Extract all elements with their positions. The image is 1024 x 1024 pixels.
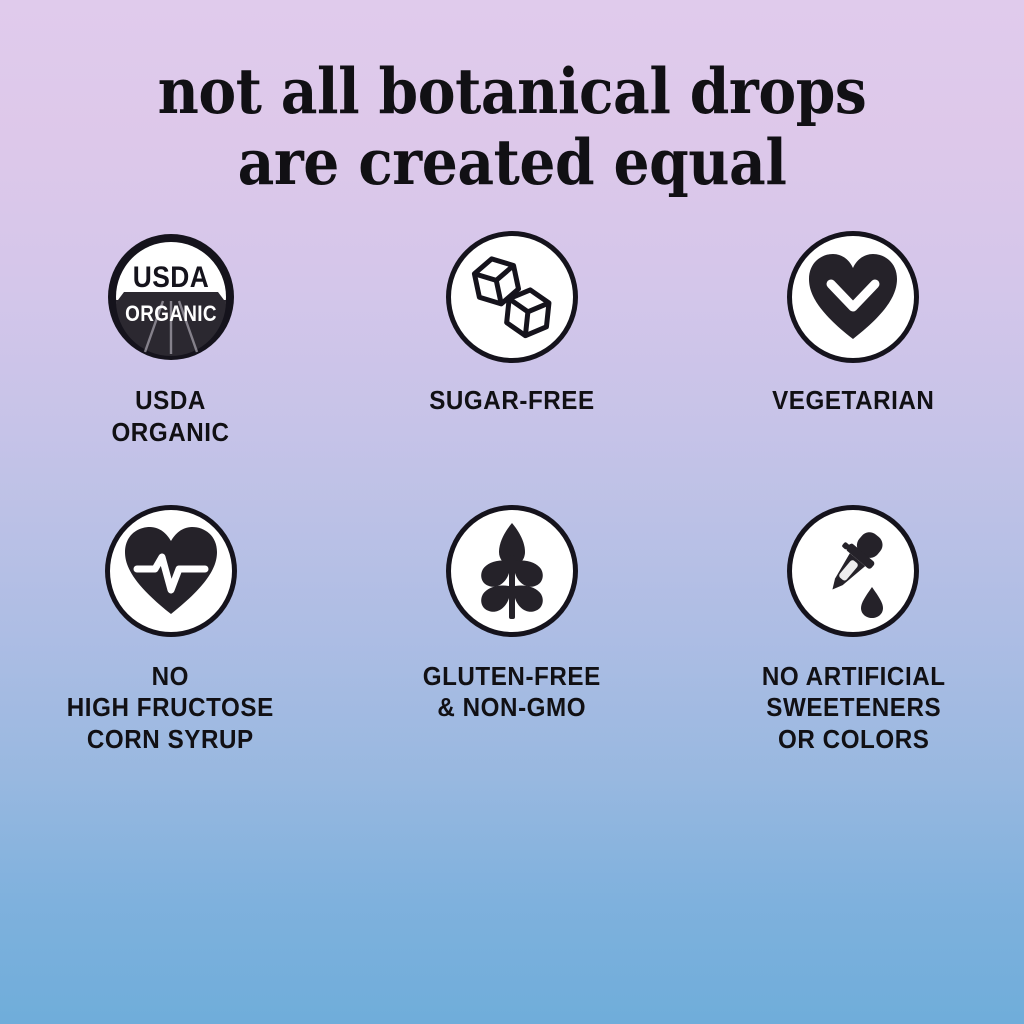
badge-caption-usda-organic: USDA ORGANIC (112, 385, 230, 448)
infographic-canvas: not all botanical drops are created equa… (0, 0, 1024, 1024)
badge-caption-vegetarian: VEGETARIAN (772, 385, 934, 417)
usda-seal-top-label: USDA (132, 259, 209, 293)
headline-line-2: are created equal (107, 127, 917, 198)
badge-caption-gluten-free-non-gmo: GLUTEN-FREE & NON-GMO (423, 661, 601, 724)
badge-vegetarian: VEGETARIAN (693, 231, 1013, 448)
usda-organic-seal-icon: USDA ORGANIC (105, 231, 237, 363)
caption-line: VEGETARIAN (772, 385, 934, 417)
caption-line: SWEETENERS (761, 692, 945, 724)
caption-line: NO ARTIFICIAL (761, 661, 945, 693)
caption-line: USDA (112, 385, 230, 417)
badge-caption-no-artificial-sweeteners-or-colors: NO ARTIFICIAL SWEETENERS OR COLORS (761, 661, 945, 756)
badge-sugar-free: SUGAR-FREE (352, 231, 672, 448)
badge-no-artificial-sweeteners-or-colors: NO ARTIFICIAL SWEETENERS OR COLORS (693, 505, 1013, 756)
badge-caption-no-high-fructose-corn-syrup: NO HIGH FRUCTOSE CORN SYRUP (67, 661, 274, 756)
wheat-stalk-icon (446, 505, 578, 637)
headline-line-1: not all botanical drops (107, 56, 917, 127)
caption-line: & NON-GMO (423, 692, 601, 724)
caption-line: NO (67, 661, 274, 693)
caption-line: ORGANIC (112, 417, 230, 449)
caption-line: HIGH FRUCTOSE (67, 692, 274, 724)
heart-chevron-icon (787, 231, 919, 363)
dropper-droplet-icon (787, 505, 919, 637)
heart-heartbeat-icon (105, 505, 237, 637)
badge-no-high-fructose-corn-syrup: NO HIGH FRUCTOSE CORN SYRUP (11, 505, 331, 756)
badge-caption-sugar-free: SUGAR-FREE (429, 385, 594, 417)
usda-seal-bottom-label: ORGANIC (125, 302, 217, 327)
caption-line: CORN SYRUP (67, 724, 274, 756)
page-title: not all botanical drops are created equa… (107, 56, 917, 197)
caption-line: SUGAR-FREE (429, 385, 594, 417)
benefit-badge-grid: USDA ORGANIC USDA ORGANIC (0, 231, 1024, 756)
caption-line: OR COLORS (761, 724, 945, 756)
badge-usda-organic: USDA ORGANIC USDA ORGANIC (11, 231, 331, 448)
sugar-cubes-icon (446, 231, 578, 363)
badge-gluten-free-non-gmo: GLUTEN-FREE & NON-GMO (352, 505, 672, 756)
caption-line: GLUTEN-FREE (423, 661, 601, 693)
